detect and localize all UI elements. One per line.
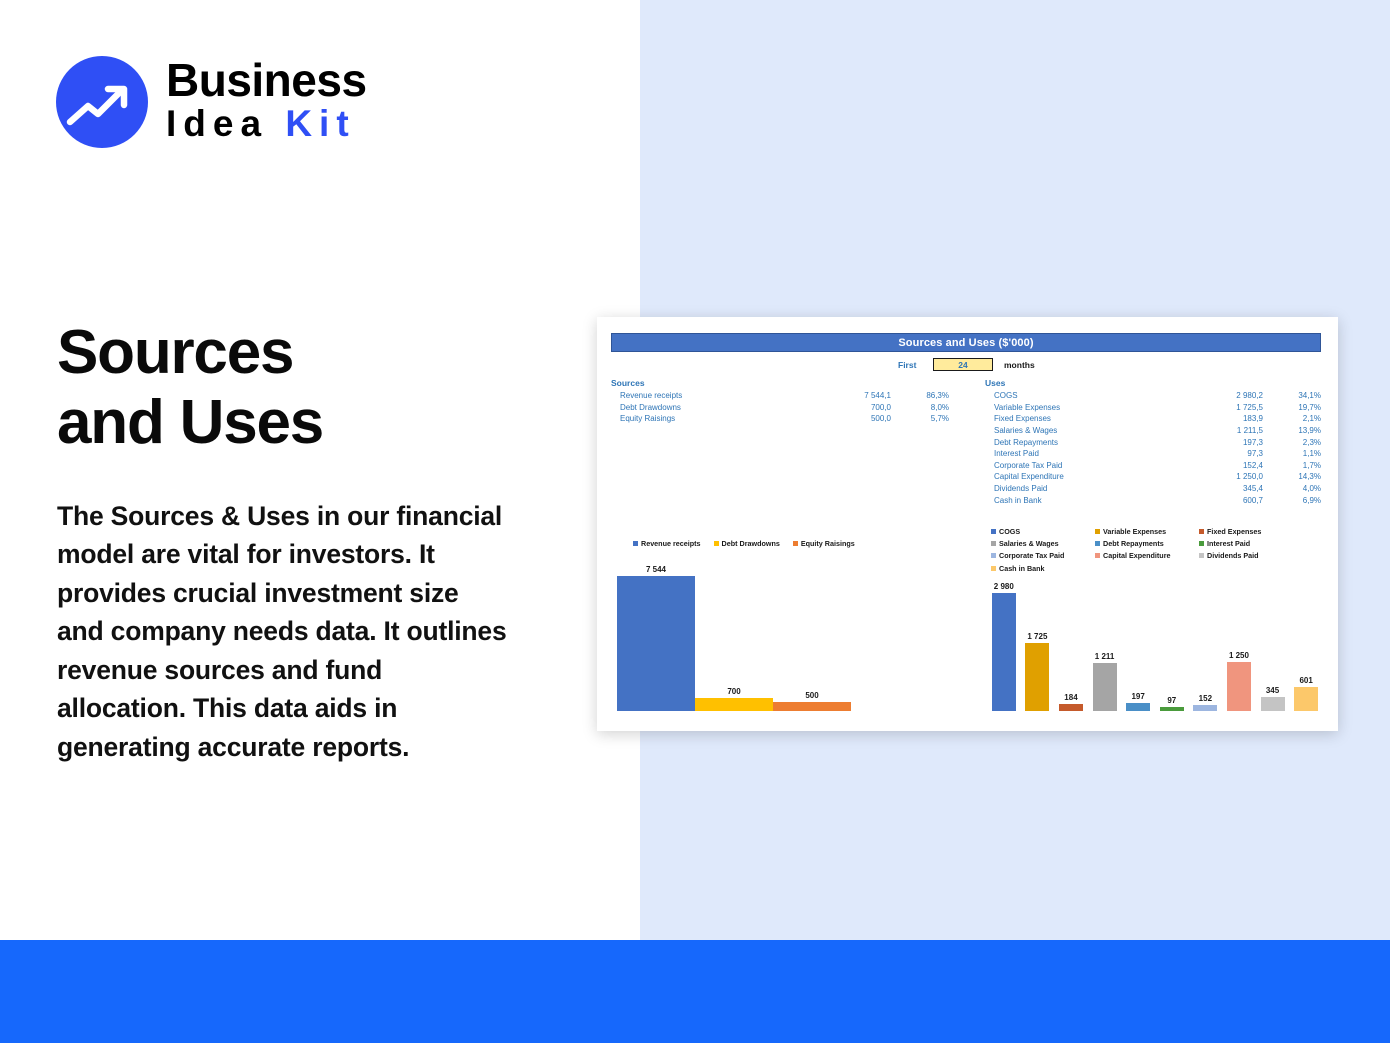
- legend-label: Revenue receipts: [641, 539, 701, 548]
- legend-item[interactable]: Interest Paid: [1199, 539, 1303, 548]
- page-body-text: The Sources & Uses in our financial mode…: [57, 497, 507, 766]
- use-row-label: Corporate Tax Paid: [985, 461, 1197, 470]
- legend-item[interactable]: Salaries & Wages: [991, 539, 1095, 548]
- legend-label: Equity Raisings: [801, 539, 855, 548]
- use-row-pct: 2,3%: [1263, 438, 1321, 447]
- source-row-pct: 86,3%: [891, 391, 949, 400]
- legend-label: Debt Repayments: [1103, 539, 1164, 548]
- source-row-value: 7 544,1: [825, 391, 891, 400]
- bar-column: 345: [1256, 575, 1290, 711]
- legend-item[interactable]: Revenue receipts: [633, 539, 701, 548]
- bar-column: 184: [1054, 575, 1088, 711]
- bar-value-label: 7 544: [646, 565, 666, 574]
- brand-name-idea: Idea: [166, 103, 285, 144]
- bar-rect: [1025, 643, 1049, 711]
- bar-value-label: 1 250: [1229, 651, 1249, 660]
- legend-swatch-icon: [1199, 553, 1204, 558]
- sources-chart-legend: Revenue receiptsDebt DrawdownsEquity Rai…: [633, 539, 933, 548]
- bar-column: 500: [773, 563, 851, 711]
- legend-swatch-icon: [633, 541, 638, 546]
- use-row-value: 1 250,0: [1197, 472, 1263, 481]
- bar-value-label: 184: [1064, 693, 1077, 702]
- use-row-pct: 13,9%: [1263, 426, 1321, 435]
- sources-column: Sources Revenue receipts7 544,186,3%Debt…: [611, 378, 949, 425]
- use-row-value: 97,3: [1197, 449, 1263, 458]
- bar-column: 700: [695, 563, 773, 711]
- table-row: Debt Repayments197,32,3%: [985, 436, 1321, 448]
- bar-rect: [695, 698, 773, 711]
- bar-rect: [1193, 705, 1217, 711]
- use-row-value: 183,9: [1197, 414, 1263, 423]
- legend-item[interactable]: COGS: [991, 527, 1095, 536]
- legend-label: Interest Paid: [1207, 539, 1250, 548]
- page-title: Sourcesand Uses: [57, 318, 617, 458]
- table-row: Variable Expenses1 725,519,7%: [985, 402, 1321, 414]
- bar-rect: [1294, 687, 1318, 711]
- table-row: Salaries & Wages1 211,513,9%: [985, 425, 1321, 437]
- legend-item[interactable]: Corporate Tax Paid: [991, 551, 1095, 560]
- bar-column: 97: [1155, 575, 1189, 711]
- table-row: Debt Drawdowns700,08,0%: [611, 402, 949, 414]
- uses-chart-legend: COGSVariable ExpensesFixed ExpensesSalar…: [991, 527, 1327, 576]
- bar-value-label: 601: [1299, 676, 1312, 685]
- bar-column: 2 980: [987, 575, 1021, 711]
- uses-bar-chart: 2 9801 7251841 211197971521 250345601: [987, 575, 1323, 711]
- legend-item[interactable]: Cash in Bank: [991, 564, 1095, 573]
- sources-heading: Sources: [611, 378, 949, 388]
- legend-label: Cash in Bank: [999, 564, 1045, 573]
- use-row-label: Interest Paid: [985, 449, 1197, 458]
- use-row-label: Debt Repayments: [985, 438, 1197, 447]
- use-row-label: Variable Expenses: [985, 403, 1197, 412]
- table-row: COGS2 980,234,1%: [985, 390, 1321, 402]
- source-row-label: Revenue receipts: [611, 391, 825, 400]
- bar-rect: [617, 576, 695, 711]
- sheet-title-bar: Sources and Uses ($'000): [611, 333, 1321, 352]
- use-row-value: 345,4: [1197, 484, 1263, 493]
- source-row-pct: 5,7%: [891, 414, 949, 423]
- uses-heading: Uses: [985, 378, 1321, 388]
- bar-rect: [1261, 697, 1285, 711]
- use-row-value: 600,7: [1197, 496, 1263, 505]
- uses-column: Uses COGS2 980,234,1%Variable Expenses1 …: [985, 378, 1321, 506]
- table-row: Interest Paid97,31,1%: [985, 448, 1321, 460]
- months-first-label: First: [898, 360, 916, 370]
- use-row-label: Cash in Bank: [985, 496, 1197, 505]
- bar-value-label: 500: [805, 691, 818, 700]
- use-row-value: 152,4: [1197, 461, 1263, 470]
- legend-item[interactable]: Debt Drawdowns: [714, 539, 780, 548]
- bar-rect: [1227, 662, 1251, 711]
- table-row: Corporate Tax Paid152,41,7%: [985, 460, 1321, 472]
- legend-label: Debt Drawdowns: [722, 539, 780, 548]
- bottom-accent-band: [0, 940, 1390, 1043]
- bar-column: 1 211: [1088, 575, 1122, 711]
- use-row-value: 1 211,5: [1197, 426, 1263, 435]
- source-row-value: 700,0: [825, 403, 891, 412]
- bar-column: 1 250: [1222, 575, 1256, 711]
- bar-rect: [1093, 663, 1117, 711]
- use-row-pct: 34,1%: [1263, 391, 1321, 400]
- table-row: Revenue receipts7 544,186,3%: [611, 390, 949, 402]
- brand-logo: Business Idea Kit: [56, 56, 367, 148]
- use-row-label: Fixed Expenses: [985, 414, 1197, 423]
- legend-swatch-icon: [991, 541, 996, 546]
- use-row-value: 2 980,2: [1197, 391, 1263, 400]
- use-row-value: 1 725,5: [1197, 403, 1263, 412]
- legend-label: Corporate Tax Paid: [999, 551, 1064, 560]
- use-row-value: 197,3: [1197, 438, 1263, 447]
- use-row-label: COGS: [985, 391, 1197, 400]
- legend-label: Variable Expenses: [1103, 527, 1166, 536]
- use-row-pct: 6,9%: [1263, 496, 1321, 505]
- legend-label: COGS: [999, 527, 1020, 536]
- bar-value-label: 345: [1266, 686, 1279, 695]
- bar-column: 601: [1289, 575, 1323, 711]
- legend-swatch-icon: [793, 541, 798, 546]
- legend-swatch-icon: [1095, 553, 1100, 558]
- table-row: Capital Expenditure1 250,014,3%: [985, 471, 1321, 483]
- legend-swatch-icon: [1199, 541, 1204, 546]
- legend-label: Capital Expenditure: [1103, 551, 1171, 560]
- table-row: Cash in Bank600,76,9%: [985, 494, 1321, 506]
- sources-rows: Revenue receipts7 544,186,3%Debt Drawdow…: [611, 390, 949, 425]
- uses-rows: COGS2 980,234,1%Variable Expenses1 725,5…: [985, 390, 1321, 506]
- bar-column: 1 725: [1021, 575, 1055, 711]
- bar-value-label: 2 980: [994, 582, 1014, 591]
- bar-value-label: 152: [1199, 694, 1212, 703]
- bar-rect: [1160, 707, 1184, 711]
- sources-bars: 7 544700500: [617, 563, 933, 711]
- legend-item[interactable]: Debt Repayments: [1095, 539, 1199, 548]
- source-row-label: Equity Raisings: [611, 414, 825, 423]
- legend-swatch-icon: [1095, 529, 1100, 534]
- bar-column: 7 544: [617, 563, 695, 711]
- bar-value-label: 97: [1167, 696, 1176, 705]
- bar-rect: [992, 593, 1016, 711]
- bar-value-label: 700: [727, 687, 740, 696]
- legend-swatch-icon: [991, 529, 996, 534]
- table-row: Fixed Expenses183,92,1%: [985, 413, 1321, 425]
- bar-column: 197: [1121, 575, 1155, 711]
- legend-label: Fixed Expenses: [1207, 527, 1261, 536]
- growth-arrow-circle-icon: [56, 56, 148, 148]
- legend-label: Salaries & Wages: [999, 539, 1059, 548]
- legend-swatch-icon: [991, 553, 996, 558]
- use-row-label: Salaries & Wages: [985, 426, 1197, 435]
- legend-item[interactable]: Variable Expenses: [1095, 527, 1199, 536]
- legend-swatch-icon: [1199, 529, 1204, 534]
- brand-name-line1: Business: [166, 58, 367, 103]
- legend-item[interactable]: Dividends Paid: [1199, 551, 1303, 560]
- months-control-row: First 24 months: [611, 357, 1321, 372]
- months-input[interactable]: 24: [933, 358, 993, 371]
- legend-label: Dividends Paid: [1207, 551, 1259, 560]
- legend-item[interactable]: Capital Expenditure: [1095, 551, 1199, 560]
- use-row-label: Dividends Paid: [985, 484, 1197, 493]
- legend-item[interactable]: Equity Raisings: [793, 539, 855, 548]
- brand-name-line2: Idea Kit: [166, 103, 367, 146]
- bar-value-label: 1 725: [1027, 632, 1047, 641]
- months-unit-label: months: [1004, 360, 1035, 370]
- bar-rect: [773, 702, 851, 711]
- use-row-pct: 1,1%: [1263, 449, 1321, 458]
- spreadsheet-screenshot-card: Sources and Uses ($'000) First 24 months…: [597, 317, 1338, 731]
- brand-wordmark: Business Idea Kit: [166, 58, 367, 146]
- source-row-label: Debt Drawdowns: [611, 403, 825, 412]
- bar-column: 152: [1189, 575, 1223, 711]
- use-row-pct: 2,1%: [1263, 414, 1321, 423]
- legend-item[interactable]: Fixed Expenses: [1199, 527, 1303, 536]
- use-row-label: Capital Expenditure: [985, 472, 1197, 481]
- legend-swatch-icon: [991, 566, 996, 571]
- bar-rect: [1126, 703, 1150, 711]
- source-row-value: 500,0: [825, 414, 891, 423]
- use-row-pct: 1,7%: [1263, 461, 1321, 470]
- brand-name-kit: Kit: [285, 103, 355, 144]
- bar-value-label: 1 211: [1095, 652, 1115, 661]
- use-row-pct: 14,3%: [1263, 472, 1321, 481]
- bar-value-label: 197: [1131, 692, 1144, 701]
- table-row: Dividends Paid345,44,0%: [985, 483, 1321, 495]
- use-row-pct: 4,0%: [1263, 484, 1321, 493]
- sheet-title: Sources and Uses ($'000): [898, 337, 1033, 349]
- source-row-pct: 8,0%: [891, 403, 949, 412]
- sources-bar-chart: 7 544700500: [617, 563, 933, 711]
- uses-bars: 2 9801 7251841 211197971521 250345601: [987, 575, 1323, 711]
- use-row-pct: 19,7%: [1263, 403, 1321, 412]
- legend-swatch-icon: [714, 541, 719, 546]
- bar-rect: [1059, 704, 1083, 711]
- table-row: Equity Raisings500,05,7%: [611, 413, 949, 425]
- legend-swatch-icon: [1095, 541, 1100, 546]
